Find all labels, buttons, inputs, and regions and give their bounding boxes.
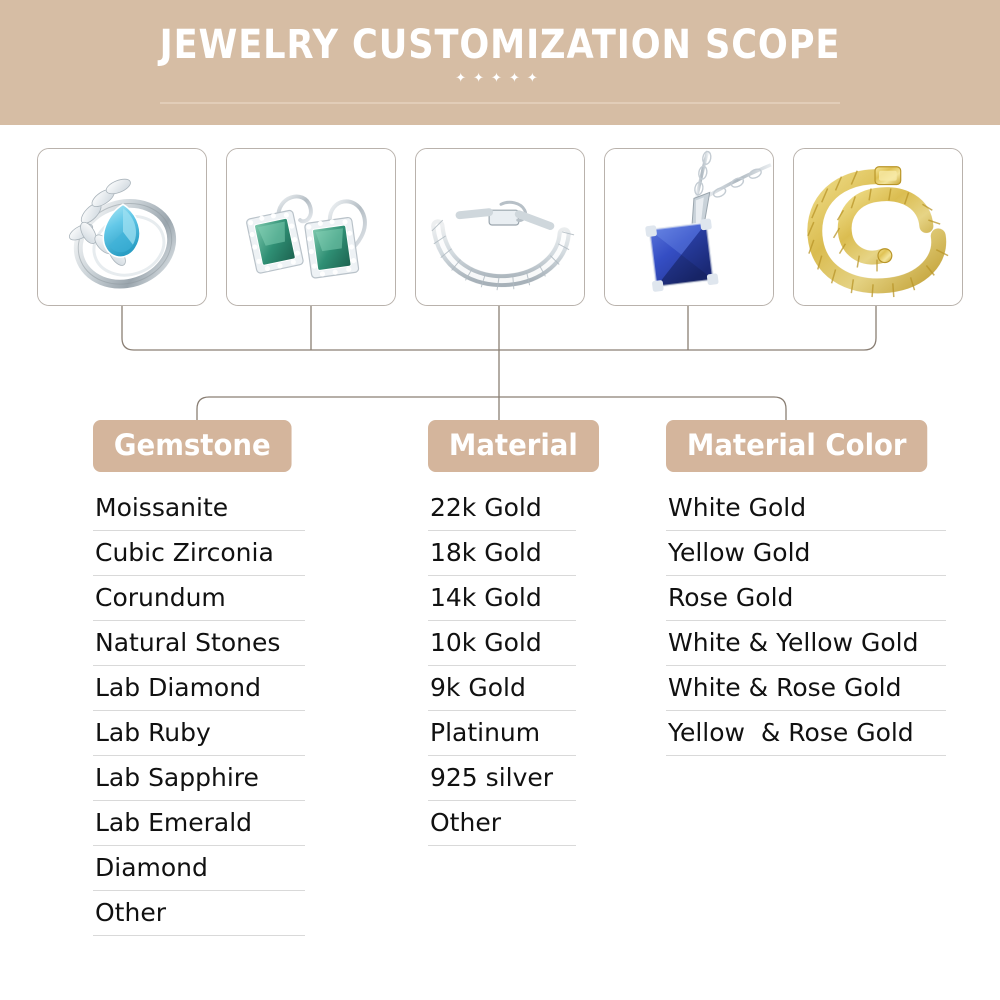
category-header-material: Material xyxy=(428,420,599,472)
product-card-chain[interactable] xyxy=(793,148,963,306)
list-item[interactable]: Other xyxy=(93,891,305,936)
product-card-row xyxy=(37,148,963,306)
necklace-image xyxy=(605,149,773,305)
connector-lines-svg xyxy=(0,300,1000,430)
category-column-gemstone: Gemstone Moissanite Cubic Zirconia Corun… xyxy=(93,420,305,936)
list-item[interactable]: Diamond xyxy=(93,846,305,891)
ring-image xyxy=(38,149,206,305)
earrings-image xyxy=(227,149,395,305)
list-item[interactable]: Cubic Zirconia xyxy=(93,531,305,576)
category-column-material-color: Material Color White Gold Yellow Gold Ro… xyxy=(666,420,946,756)
product-card-necklace[interactable] xyxy=(604,148,774,306)
list-item[interactable]: Lab Emerald xyxy=(93,801,305,846)
category-list-material: 22k Gold 18k Gold 14k Gold 10k Gold 9k G… xyxy=(428,486,576,846)
list-item[interactable]: Yellow & Rose Gold xyxy=(666,711,946,756)
product-card-bracelet[interactable] xyxy=(415,148,585,306)
connector-diagram xyxy=(0,300,1000,430)
list-item[interactable]: 925 silver xyxy=(428,756,576,801)
list-item[interactable]: Lab Sapphire xyxy=(93,756,305,801)
list-item[interactable]: Lab Diamond xyxy=(93,666,305,711)
list-item[interactable]: Moissanite xyxy=(93,486,305,531)
bracelet-image xyxy=(416,149,584,305)
list-item[interactable]: White Gold xyxy=(666,486,946,531)
category-column-material: Material 22k Gold 18k Gold 14k Gold 10k … xyxy=(428,420,576,846)
list-item[interactable]: Natural Stones xyxy=(93,621,305,666)
infographic-page: JEWELRY CUSTOMIZATION SCOPE ✦✦✦✦✦ xyxy=(0,0,1000,1000)
list-item[interactable]: Other xyxy=(428,801,576,846)
list-item[interactable]: 10k Gold xyxy=(428,621,576,666)
list-item[interactable]: Corundum xyxy=(93,576,305,621)
category-list-gemstone: Moissanite Cubic Zirconia Corundum Natur… xyxy=(93,486,305,936)
header-divider xyxy=(160,102,840,104)
connector-card-1 xyxy=(122,306,311,350)
page-title: JEWELRY CUSTOMIZATION SCOPE xyxy=(60,22,940,68)
connector-card-5 xyxy=(688,306,876,350)
list-item[interactable]: Yellow Gold xyxy=(666,531,946,576)
category-header-gemstone: Gemstone xyxy=(93,420,292,472)
category-header-material-color: Material Color xyxy=(666,420,927,472)
category-columns: Gemstone Moissanite Cubic Zirconia Corun… xyxy=(0,420,1000,980)
gold-chain-image xyxy=(794,149,962,305)
list-item[interactable]: 14k Gold xyxy=(428,576,576,621)
list-item[interactable]: 22k Gold xyxy=(428,486,576,531)
header-band: JEWELRY CUSTOMIZATION SCOPE ✦✦✦✦✦ xyxy=(0,0,1000,125)
list-item[interactable]: 9k Gold xyxy=(428,666,576,711)
list-item[interactable]: Lab Ruby xyxy=(93,711,305,756)
list-item[interactable]: White & Yellow Gold xyxy=(666,621,946,666)
product-card-ring[interactable] xyxy=(37,148,207,306)
list-item[interactable]: Rose Gold xyxy=(666,576,946,621)
list-item[interactable]: 18k Gold xyxy=(428,531,576,576)
star-decoration: ✦✦✦✦✦ xyxy=(0,72,1000,86)
list-item[interactable]: White & Rose Gold xyxy=(666,666,946,711)
category-list-material-color: White Gold Yellow Gold Rose Gold White &… xyxy=(666,486,946,756)
list-item[interactable]: Platinum xyxy=(428,711,576,756)
product-card-earrings[interactable] xyxy=(226,148,396,306)
